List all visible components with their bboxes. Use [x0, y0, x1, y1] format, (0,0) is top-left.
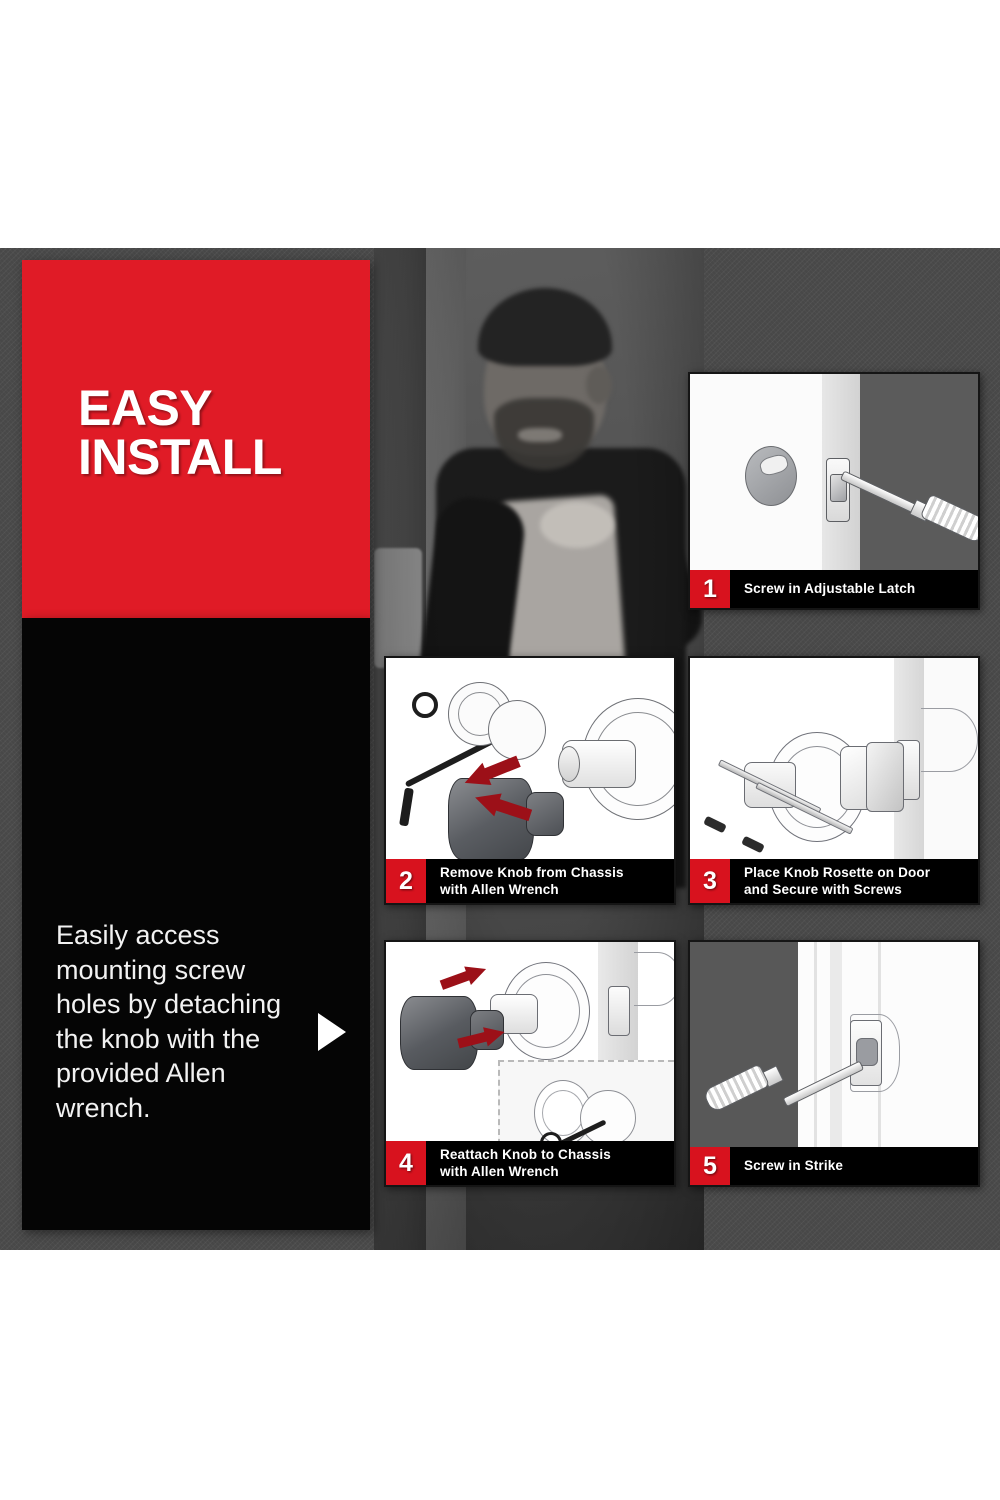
latch-outline [634, 952, 674, 1006]
page-title: EASY INSTALL [78, 384, 368, 482]
ghost-knob [488, 700, 546, 760]
step-2-number-badge: 2 [386, 859, 426, 903]
step-3-caption-line-1: Place Knob Rosette on Door [744, 864, 978, 881]
step-1-caption-bar: 1 Screw in Adjustable Latch [690, 570, 978, 608]
step-2-caption-line-1: Remove Knob from Chassis [440, 864, 674, 881]
step-1-number-badge: 1 [690, 570, 730, 608]
chassis-nut [866, 742, 904, 812]
latch-faceplate [608, 986, 630, 1036]
door-opening-shadow [690, 942, 798, 1147]
step-3-caption: Place Knob Rosette on Door and Secure wi… [730, 859, 978, 903]
step-5-caption: Screw in Strike [730, 1147, 978, 1185]
step-3-illustration [690, 658, 978, 859]
bore-hole [745, 446, 797, 506]
step-panel-4[interactable]: 4 Reattach Knob to Chassis with Allen Wr… [384, 940, 676, 1187]
wrench-ring [412, 692, 438, 718]
step-5-number-badge: 5 [690, 1147, 730, 1185]
title-block: EASY INSTALL [22, 260, 370, 618]
infographic-board: EASY INSTALL Easily access mounting scre… [0, 248, 1000, 1250]
chassis-spindle-cap [558, 746, 580, 782]
allen-wrench-short-leg [399, 788, 414, 827]
background-wall [860, 374, 978, 570]
step-1-caption: Screw in Adjustable Latch [730, 570, 978, 608]
step-5-caption-bar: 5 Screw in Strike [690, 1147, 978, 1185]
step-4-illustration [386, 942, 674, 1141]
step-4-caption-line-2: with Allen Wrench [440, 1163, 674, 1180]
jamb-line-1 [814, 942, 817, 1147]
infographic-canvas: EASY INSTALL Easily access mounting scre… [0, 0, 1000, 1500]
latch-outline [921, 708, 978, 772]
step-4-caption-line-1: Reattach Knob to Chassis [440, 1146, 674, 1163]
mounting-screw-2-head [741, 836, 765, 854]
step-2-illustration [386, 658, 674, 859]
title-line-2: INSTALL [78, 433, 368, 482]
jamb-line-2 [830, 942, 842, 1147]
step-3-caption-line-2: and Secure with Screws [744, 881, 978, 898]
step-3-number-badge: 3 [690, 859, 730, 903]
step-2-caption: Remove Knob from Chassis with Allen Wren… [426, 859, 674, 903]
step-2-caption-line-2: with Allen Wrench [440, 881, 674, 898]
step-panel-1[interactable]: 1 Screw in Adjustable Latch [688, 372, 980, 610]
step-1-illustration [690, 374, 978, 570]
inset-knob [580, 1090, 636, 1141]
knob-body [400, 996, 478, 1070]
step-3-caption-bar: 3 Place Knob Rosette on Door and Secure … [690, 859, 978, 903]
step-4-number-badge: 4 [386, 1141, 426, 1185]
description-text: Easily access mounting screw holes by de… [56, 918, 306, 1125]
step-4-caption: Reattach Knob to Chassis with Allen Wren… [426, 1141, 674, 1185]
step-4-caption-bar: 4 Reattach Knob to Chassis with Allen Wr… [386, 1141, 674, 1185]
mounting-screw-1-head [703, 816, 727, 834]
description-block: Easily access mounting screw holes by de… [22, 618, 370, 1230]
step-1-caption-line-1: Screw in Adjustable Latch [744, 580, 978, 597]
step-5-caption-line-1: Screw in Strike [744, 1157, 978, 1174]
inset-rosette-inner [542, 1090, 584, 1136]
step-panel-2[interactable]: 2 Remove Knob from Chassis with Allen Wr… [384, 656, 676, 905]
step-panel-5[interactable]: 5 Screw in Strike [688, 940, 980, 1187]
title-line-1: EASY [78, 384, 368, 433]
removed-knob-stem [526, 792, 564, 836]
inset-detail-box [498, 1060, 674, 1141]
step-panel-3[interactable]: 3 Place Knob Rosette on Door and Secure … [688, 656, 980, 905]
play-triangle-icon [318, 1013, 346, 1051]
step-2-caption-bar: 2 Remove Knob from Chassis with Allen Wr… [386, 859, 674, 903]
step-5-illustration [690, 942, 978, 1147]
